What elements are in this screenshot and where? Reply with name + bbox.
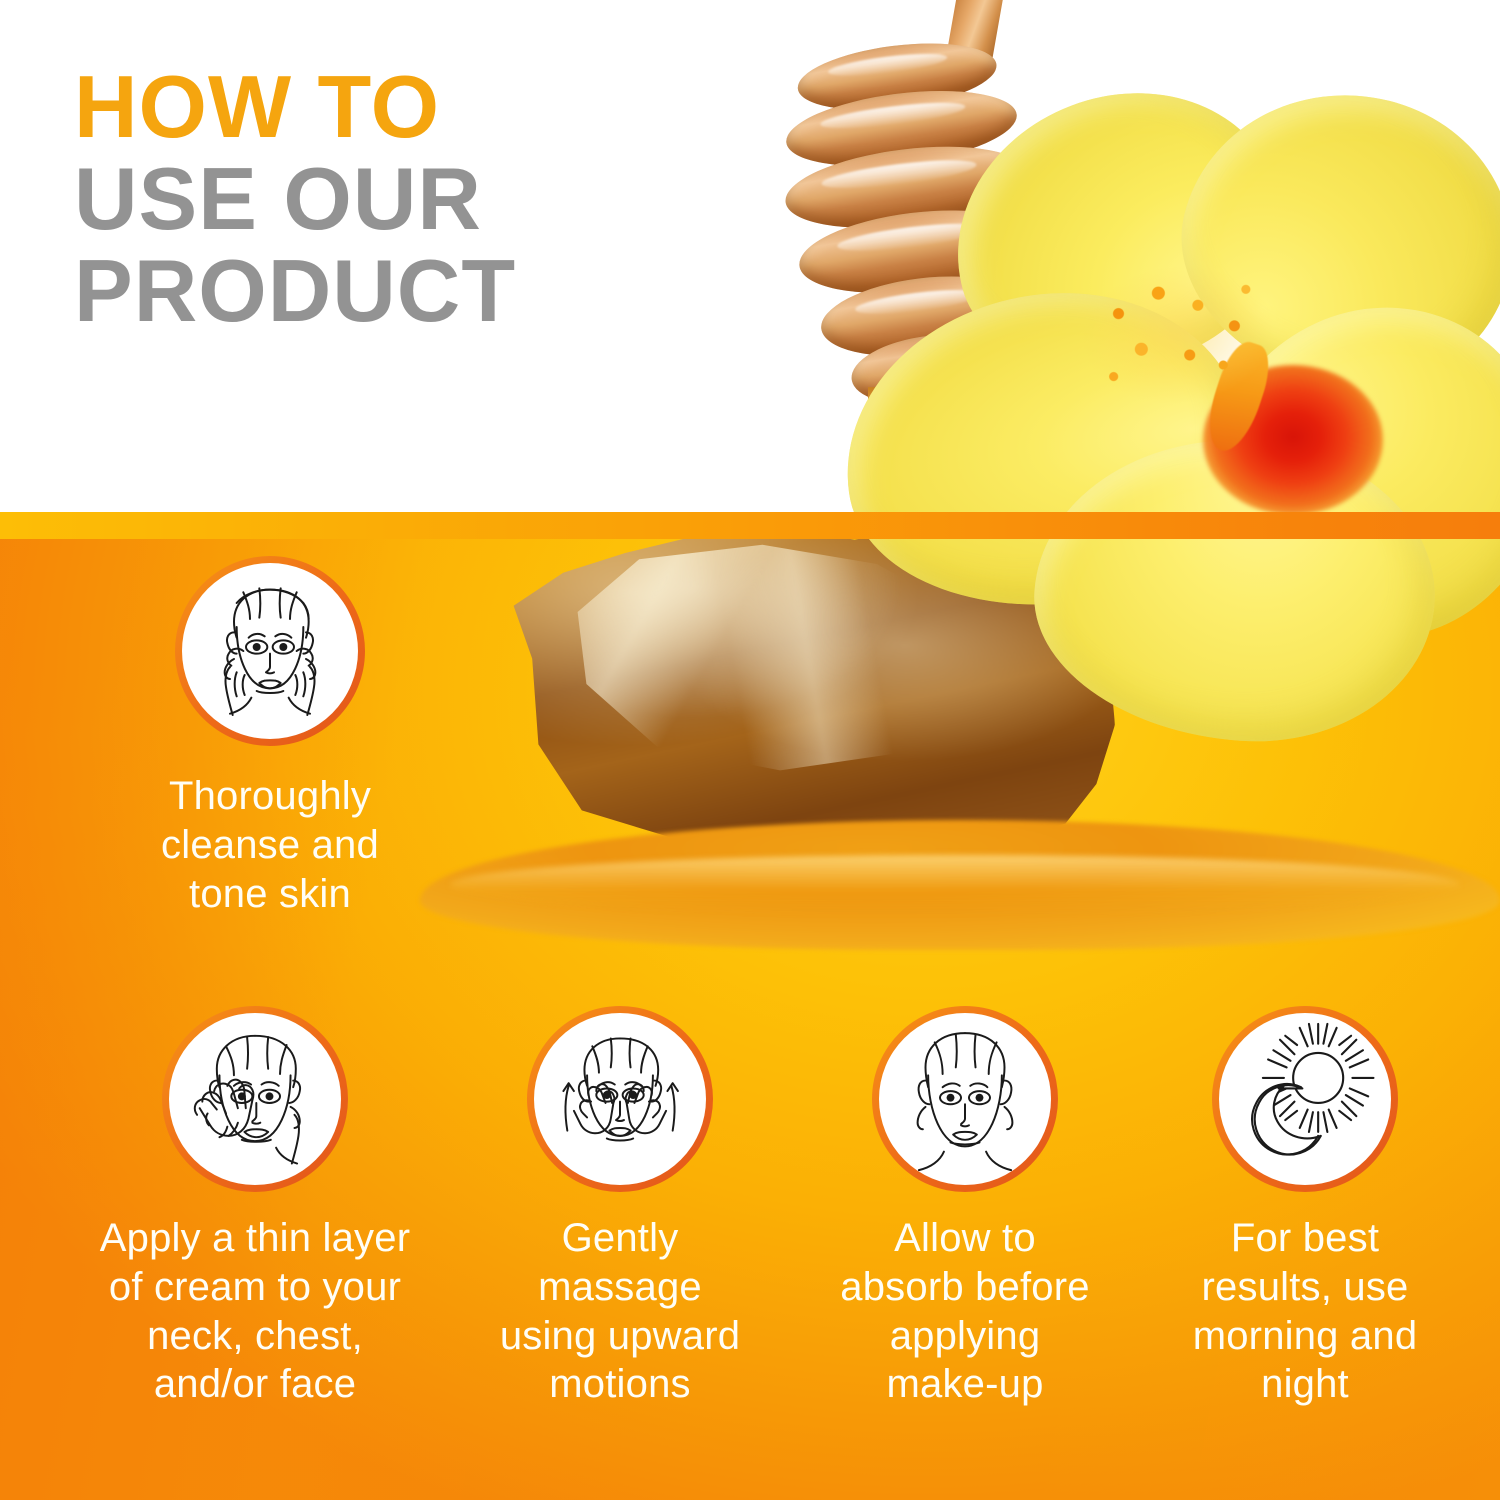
infographic-canvas: HOW TO USE OUR PRODUCT: [0, 0, 1500, 1500]
step-apply: Apply a thin layer of cream to your neck…: [55, 1006, 455, 1409]
step-label: Gently massage using upward motions: [450, 1214, 790, 1409]
step-label: For best results, use morning and night: [1135, 1214, 1475, 1409]
sun-moon-icon: [1212, 1006, 1398, 1192]
header-divider-stripe: [0, 512, 1500, 539]
face-upward-massage-icon: [527, 1006, 713, 1192]
step-cleanse: Thoroughly cleanse and tone skin: [70, 556, 470, 918]
face-cleanse-icon: [175, 556, 365, 746]
step-label: Apply a thin layer of cream to your neck…: [55, 1214, 455, 1409]
step-absorb: Allow to absorb before applying make-up: [795, 1006, 1135, 1409]
honey-pool-rim: [450, 855, 1460, 915]
hibiscus-flower-icon: [915, 95, 1500, 775]
face-plain-icon: [872, 1006, 1058, 1192]
title-line-how-to: HOW TO: [74, 64, 516, 150]
face-apply-cream-icon: [162, 1006, 348, 1192]
flower-anthers: [1076, 257, 1279, 411]
step-massage: Gently massage using upward motions: [450, 1006, 790, 1409]
step-label: Allow to absorb before applying make-up: [795, 1214, 1135, 1409]
step-frequency: For best results, use morning and night: [1135, 1006, 1475, 1409]
page-title: HOW TO USE OUR PRODUCT: [74, 64, 516, 335]
title-line-product: PRODUCT: [74, 248, 516, 334]
step-label: Thoroughly cleanse and tone skin: [70, 772, 470, 918]
title-line-use-our: USE OUR: [74, 156, 516, 242]
